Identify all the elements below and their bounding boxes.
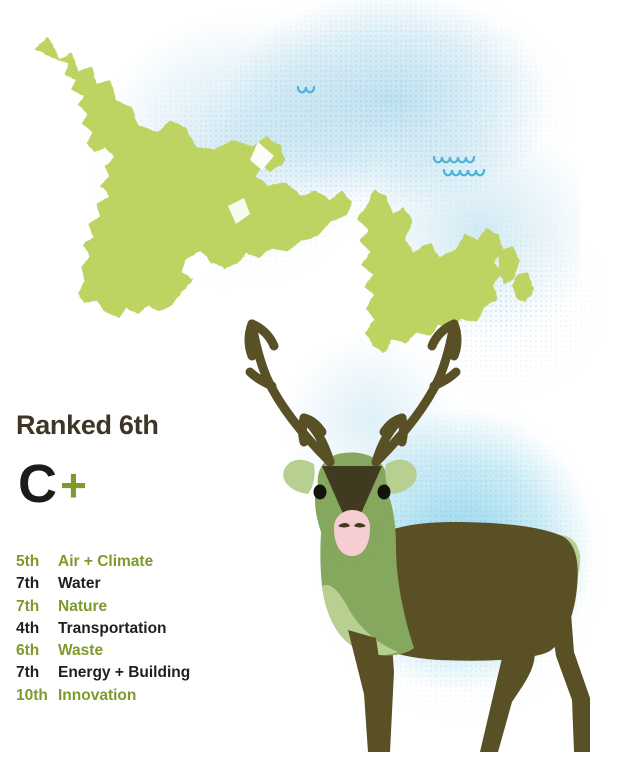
- category-label: Energy + Building: [58, 662, 190, 684]
- category-label: Transportation: [58, 618, 167, 640]
- caribou-muzzle: [334, 510, 370, 556]
- overall-rank-heading: Ranked 6th: [16, 412, 316, 439]
- category-rank-position: 6th: [16, 640, 58, 662]
- category-rank-position: 4th: [16, 618, 58, 640]
- category-label: Innovation: [58, 685, 136, 707]
- category-row: 7thWater: [16, 573, 316, 595]
- category-label: Nature: [58, 596, 107, 618]
- category-label: Air + Climate: [58, 551, 153, 573]
- category-row: 6thWaste: [16, 640, 316, 662]
- category-row: 7thNature: [16, 596, 316, 618]
- overall-grade: C +: [18, 461, 316, 507]
- category-row: 10thInnovation: [16, 685, 316, 707]
- wave-mark-single-icon: [296, 84, 330, 98]
- grade-modifier: +: [60, 465, 87, 506]
- category-row: 5thAir + Climate: [16, 551, 316, 573]
- category-rank-position: 10th: [16, 685, 58, 707]
- province-report-card: Ranked 6th C + 5thAir + Climate7thWater7…: [0, 0, 641, 779]
- category-rank-position: 5th: [16, 551, 58, 573]
- summary-text-block: Ranked 6th C + 5thAir + Climate7thWater7…: [16, 412, 316, 707]
- category-label: Water: [58, 573, 101, 595]
- category-rank-position: 7th: [16, 573, 58, 595]
- grade-letter: C: [18, 460, 56, 509]
- category-rank-position: 7th: [16, 662, 58, 684]
- category-rank-position: 7th: [16, 596, 58, 618]
- wave-mark-double-icon: [432, 152, 496, 182]
- offshore-island-b: [512, 272, 534, 302]
- category-rank-list: 5thAir + Climate7thWater7thNature4thTran…: [16, 551, 316, 707]
- category-row: 7thEnergy + Building: [16, 662, 316, 684]
- antler-tine-right-top-a: [454, 324, 457, 356]
- caribou-ear-right: [385, 460, 417, 494]
- antler-tine-left-top-a: [249, 324, 252, 356]
- category-row: 4thTransportation: [16, 618, 316, 640]
- category-label: Waste: [58, 640, 103, 662]
- caribou-eye-right: [378, 485, 391, 500]
